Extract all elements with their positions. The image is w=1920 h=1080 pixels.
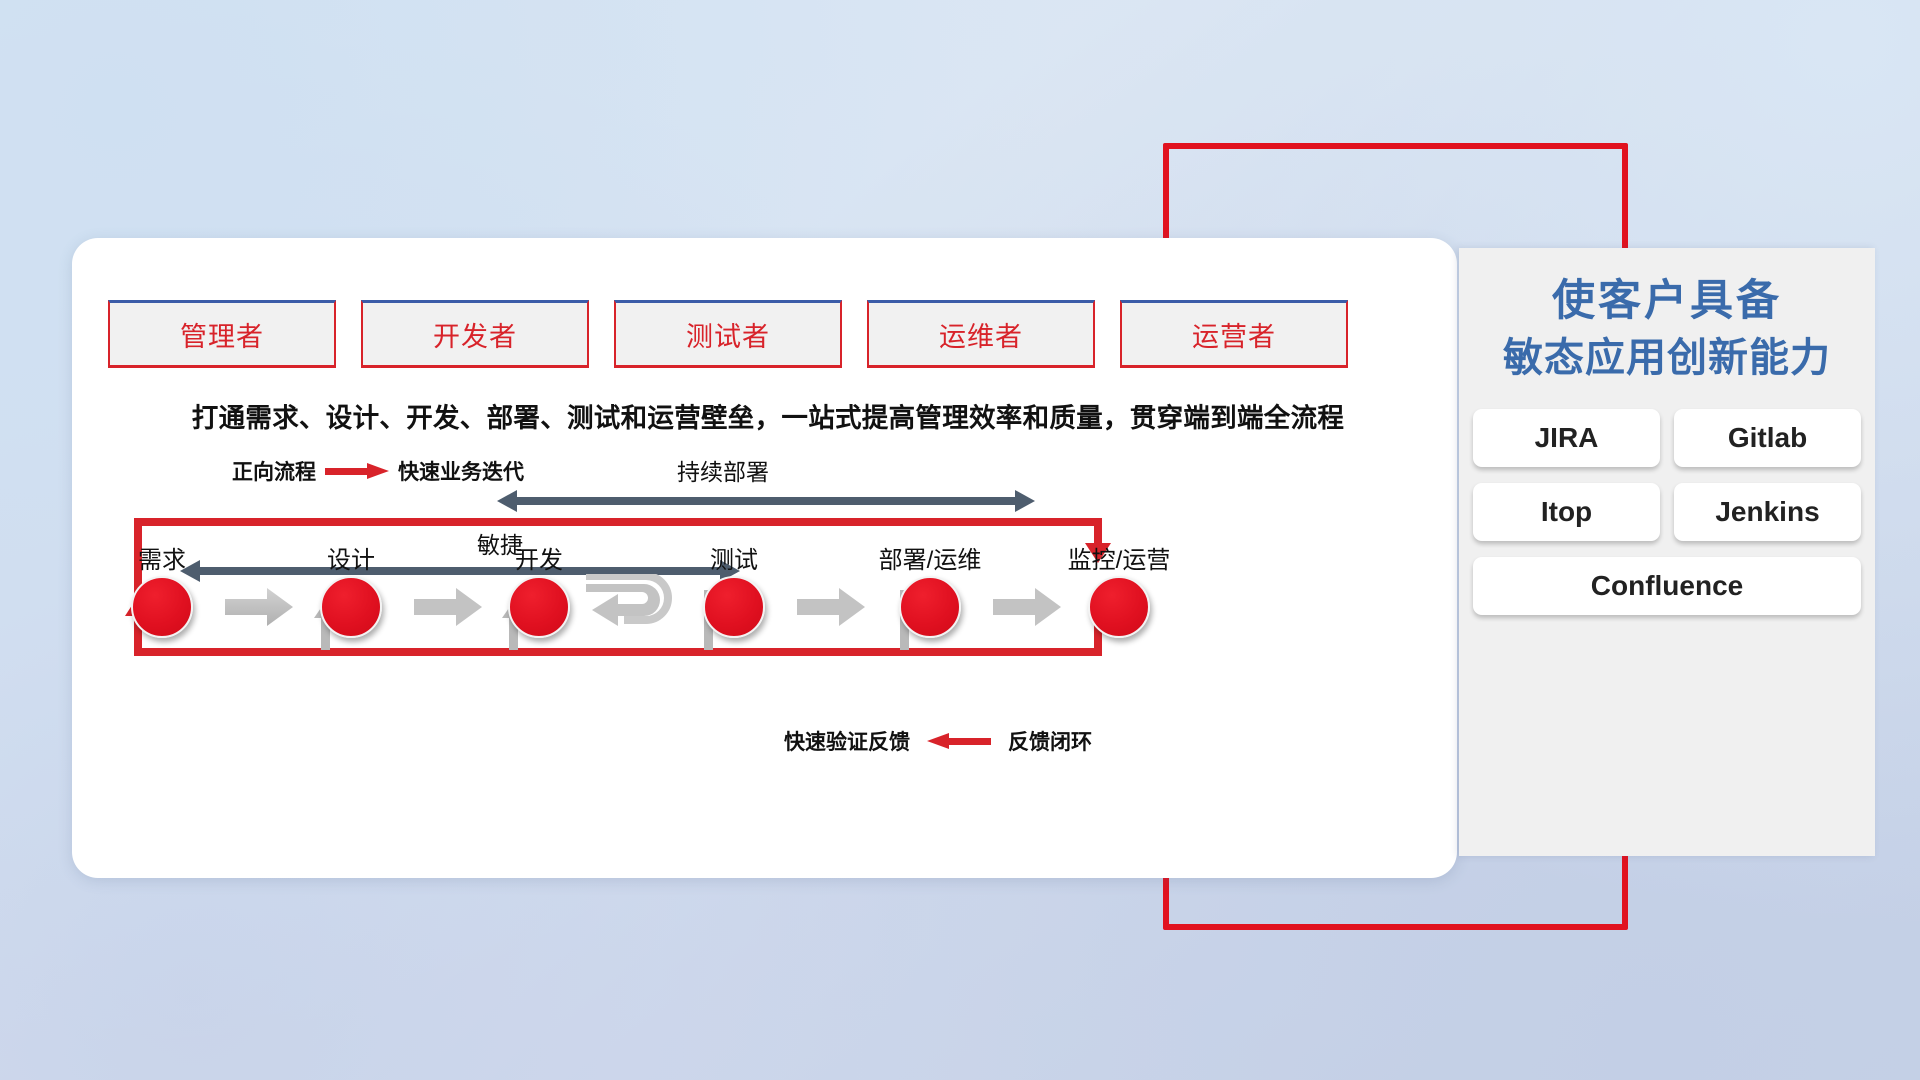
fast-iteration-label: 快速业务迭代 — [398, 456, 524, 486]
tool-label: Itop — [1541, 496, 1592, 528]
node-label-design: 设计 — [291, 540, 411, 575]
tool-chip-confluence[interactable]: Confluence — [1473, 557, 1861, 615]
node-test[interactable] — [703, 576, 765, 638]
fast-validation-label: 快速验证反馈 — [784, 726, 910, 756]
value-panel-title-line1: 使客户具备 — [1459, 272, 1875, 331]
pipeline-arrow-2-icon — [412, 586, 484, 628]
pipeline-loop-arrow-icon — [584, 574, 684, 640]
tool-label: Gitlab — [1728, 422, 1807, 454]
value-panel-title-line2: 敏态应用创新能力 — [1459, 331, 1875, 386]
tool-label: Confluence — [1591, 570, 1743, 602]
role-label: 运维者 — [939, 315, 1023, 354]
node-develop[interactable] — [508, 576, 570, 638]
node-monitor[interactable] — [1088, 576, 1150, 638]
role-box-operations[interactable]: 运营者 — [1120, 300, 1348, 368]
forward-flow-label: 正向流程 — [232, 456, 316, 486]
arrow-shaft — [513, 497, 1019, 505]
description-text: 打通需求、设计、开发、部署、测试和运营壁垒，一站式提高管理效率和质量，贯穿端到端… — [108, 396, 1428, 435]
continuous-deploy-arrow — [497, 490, 1035, 512]
node-design[interactable] — [320, 576, 382, 638]
node-requirement[interactable] — [131, 576, 193, 638]
main-diagram-card: 管理者 开发者 测试者 运维者 运营者 打通需求、设计、开发、部署、测试和运营壁… — [72, 238, 1457, 878]
tools-grid: JIRA Gitlab Itop Jenkins Confluence — [1473, 409, 1861, 615]
role-label: 管理者 — [180, 315, 264, 354]
role-box-developer[interactable]: 开发者 — [361, 300, 589, 368]
forward-flow-legend: 正向流程 快速业务迭代 — [232, 456, 524, 486]
value-panel: 使客户具备 敏态应用创新能力 JIRA Gitlab Itop Jenkins … — [1459, 248, 1875, 856]
feedback-loop-label: 反馈闭环 — [1008, 726, 1092, 756]
arrow-right-red-icon — [325, 463, 389, 479]
role-box-manager[interactable]: 管理者 — [108, 300, 336, 368]
node-label-requirement: 需求 — [102, 540, 222, 575]
role-label: 测试者 — [686, 315, 770, 354]
tool-chip-gitlab[interactable]: Gitlab — [1674, 409, 1861, 467]
role-label: 开发者 — [433, 315, 517, 354]
tool-label: JIRA — [1535, 422, 1599, 454]
loop-line-top — [134, 518, 1102, 526]
arrow-head-right-icon — [1015, 490, 1035, 512]
node-deploy[interactable] — [899, 576, 961, 638]
feedback-loop-legend: 快速验证反馈 反馈闭环 — [784, 726, 1092, 756]
node-label-develop: 开发 — [479, 540, 599, 575]
tool-label: Jenkins — [1715, 496, 1819, 528]
role-boxes-row: 管理者 开发者 测试者 运维者 运营者 — [108, 300, 1348, 368]
node-label-test: 测试 — [674, 540, 794, 575]
slide-canvas: 管理者 开发者 测试者 运维者 运营者 打通需求、设计、开发、部署、测试和运营壁… — [0, 0, 1920, 1080]
pipeline-arrow-3-icon — [795, 586, 867, 628]
tool-chip-itop[interactable]: Itop — [1473, 483, 1660, 541]
role-label: 运营者 — [1192, 315, 1276, 354]
node-label-deploy: 部署/运维 — [840, 540, 1020, 575]
tool-chip-jenkins[interactable]: Jenkins — [1674, 483, 1861, 541]
node-label-monitor: 监控/运营 — [1029, 540, 1209, 575]
loop-line-bottom — [134, 648, 1102, 656]
role-box-ops[interactable]: 运维者 — [867, 300, 1095, 368]
value-panel-title: 使客户具备 敏态应用创新能力 — [1459, 272, 1875, 387]
arrow-left-red-icon — [927, 733, 991, 749]
pipeline-arrow-1-icon — [223, 586, 295, 628]
role-box-tester[interactable]: 测试者 — [614, 300, 842, 368]
pipeline-arrow-4-icon — [991, 586, 1063, 628]
tool-chip-jira[interactable]: JIRA — [1473, 409, 1660, 467]
continuous-deploy-label: 持续部署 — [677, 453, 769, 487]
